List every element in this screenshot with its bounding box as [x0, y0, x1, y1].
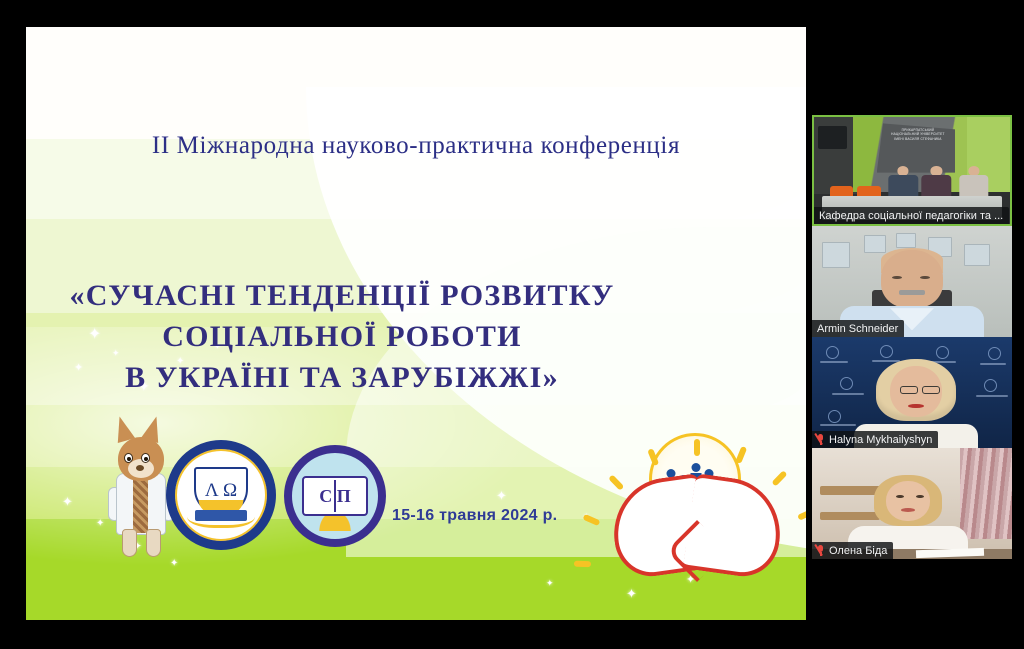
star-icon: ✦	[626, 587, 637, 600]
participant-name-bar: Halyna Mykhailyshyn	[812, 431, 938, 448]
screen-share-view: ✦ ✦ ✦ ✦ ✦ ✦ ✦ ✦ ✦ ✦ ✦ ✦ ✦ ✦ ✦ ✦ ✦ II Між…	[0, 0, 1024, 649]
participant-name-bar: Кафедра соціальної педагогіки та ...	[814, 207, 1009, 224]
pedagogy-seal-2-icon: С П	[284, 445, 386, 547]
star-icon: ✦	[496, 489, 507, 502]
tile-conference-room[interactable]: ПРИКАРПАТСЬКИЙНАЦІОНАЛЬНИЙ УНІВЕРСИТЕТІМ…	[812, 115, 1012, 226]
star-icon: ✦	[62, 495, 73, 508]
page-title: «СУЧАСНІ ТЕНДЕНЦІЇ РОЗВИТКУ СОЦІАЛЬНОЇ Р…	[26, 275, 658, 398]
title-line-1: «СУЧАСНІ ТЕНДЕНЦІЇ РОЗВИТКУ	[26, 275, 658, 316]
conference-superline: II Міжнародна науково-практична конферен…	[26, 132, 806, 160]
participant-video-strip[interactable]: ПРИКАРПАТСЬКИЙНАЦІОНАЛЬНИЙ УНІВЕРСИТЕТІМ…	[812, 115, 1012, 561]
seal-2-letters: С П	[302, 476, 368, 516]
star-icon: ✦	[170, 559, 178, 569]
tile-halyna-mykhailyshyn[interactable]: Halyna Mykhailyshyn	[812, 337, 1012, 448]
participant-name-bar: Armin Schneider	[812, 320, 904, 337]
university-seal-1-icon: Λ Ω	[166, 440, 276, 550]
sun-hands-family-logo-icon	[611, 427, 783, 577]
title-line-3: В УКРАЇНІ ТА ЗАРУБІЖЖІ»	[26, 357, 658, 398]
participant-name-bar: Олена Біда	[812, 542, 893, 559]
conference-date: 15-16 травня 2024 р.	[392, 507, 557, 525]
title-line-2: СОЦІАЛЬНОЇ РОБОТИ	[26, 316, 658, 357]
participant-name: Armin Schneider	[817, 323, 898, 335]
mic-muted-icon	[817, 434, 825, 446]
star-icon: ✦	[96, 519, 104, 529]
participant-name: Олена Біда	[829, 545, 887, 557]
tile-olena-bida[interactable]: Олена Біда	[812, 448, 1012, 559]
participant-name: Кафедра соціальної педагогіки та ...	[819, 210, 1003, 222]
mic-muted-icon	[817, 545, 825, 557]
shared-slide[interactable]: ✦ ✦ ✦ ✦ ✦ ✦ ✦ ✦ ✦ ✦ ✦ ✦ ✦ ✦ ✦ ✦ ✦ II Між…	[26, 27, 806, 620]
star-icon: ✦	[546, 579, 554, 588]
participant-name: Halyna Mykhailyshyn	[829, 434, 932, 446]
tile-armin-schneider[interactable]: Armin Schneider	[812, 226, 1012, 337]
slide-canvas: ✦ ✦ ✦ ✦ ✦ ✦ ✦ ✦ ✦ ✦ ✦ ✦ ✦ ✦ ✦ ✦ ✦ II Між…	[26, 27, 806, 620]
